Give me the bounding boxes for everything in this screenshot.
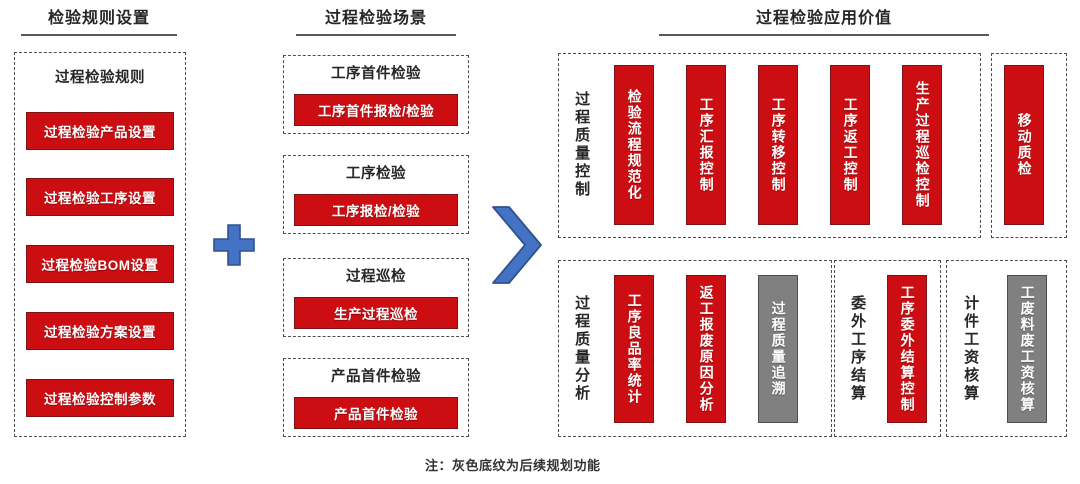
- tile-process-rework-control[interactable]: 工序返工控制: [830, 65, 870, 225]
- tile-process-report-control[interactable]: 工序汇报控制: [686, 65, 726, 225]
- diagram-canvas: 检验规则设置 过程检验规则 过程检验产品设置 过程检验工序设置 过程检验BOM设…: [0, 0, 1080, 484]
- tile-inspection-flow-standardization[interactable]: 检验流程规范化: [614, 65, 654, 225]
- section-title-value-text: 过程检验应用价值: [756, 10, 892, 27]
- chip-rule-plan-setting[interactable]: 过程检验方案设置: [26, 312, 174, 350]
- tile-scrap-material-labor-wage-accounting[interactable]: 工废料废工资核算: [1007, 275, 1047, 423]
- chip-rule-product-setting[interactable]: 过程检验产品设置: [26, 112, 174, 150]
- chip-production-process-patrol[interactable]: 生产过程巡检: [294, 297, 458, 329]
- chip-rule-bom-setting[interactable]: 过程检验BOM设置: [26, 245, 174, 283]
- label-piecework-wage-accounting: 计件工资核算: [957, 270, 983, 428]
- tile-process-quality-traceability[interactable]: 过程质量追溯: [758, 275, 798, 423]
- chevron-right-icon: [489, 203, 547, 287]
- footnote: 注：灰色底纹为后续规划功能: [425, 455, 601, 474]
- section-title-scenarios: 过程检验场景: [296, 8, 456, 36]
- group-label-process-inspection-rules: 过程检验规则: [15, 66, 185, 87]
- chip-first-article-process-report-inspect[interactable]: 工序首件报检/检验: [294, 94, 458, 126]
- section-title-value: 过程检验应用价值: [659, 8, 989, 36]
- title-rule: [659, 34, 989, 36]
- title-rule: [296, 34, 456, 36]
- tile-process-yield-rate-statistics[interactable]: 工序良品率统计: [614, 275, 654, 423]
- section-title-scenarios-text: 过程检验场景: [325, 10, 427, 27]
- tile-mobile-inspection[interactable]: 移动质检: [1004, 65, 1044, 225]
- chip-rule-control-params[interactable]: 过程检验控制参数: [26, 379, 174, 417]
- chip-process-report-inspect[interactable]: 工序报检/检验: [294, 194, 458, 226]
- title-rule: [21, 34, 177, 36]
- tile-process-transfer-control[interactable]: 工序转移控制: [758, 65, 798, 225]
- tile-rework-scrap-cause-analysis[interactable]: 返工报废原因分析: [686, 275, 726, 423]
- section-title-rules: 检验规则设置: [21, 8, 177, 36]
- group-label-first-article-process-inspection: 工序首件检验: [284, 62, 468, 83]
- plus-icon: [211, 222, 257, 268]
- chip-rule-process-setting[interactable]: 过程检验工序设置: [26, 178, 174, 216]
- label-process-quality-analysis: 过程质量分析: [568, 270, 594, 428]
- group-label-process-inspection: 工序检验: [284, 162, 468, 183]
- group-label-process-patrol-inspection: 过程巡检: [284, 265, 468, 286]
- section-title-rules-text: 检验规则设置: [48, 10, 150, 27]
- tile-outsourced-process-settlement-control[interactable]: 工序委外结算控制: [887, 275, 927, 423]
- tile-production-process-patrol-control[interactable]: 生产过程巡检控制: [902, 65, 942, 225]
- chip-product-first-article-inspection[interactable]: 产品首件检验: [294, 397, 458, 429]
- group-label-product-first-article-inspection: 产品首件检验: [284, 365, 468, 386]
- label-outsourced-process-settlement: 委外工序结算: [844, 270, 870, 428]
- label-process-quality-control: 过程质量控制: [568, 62, 594, 228]
